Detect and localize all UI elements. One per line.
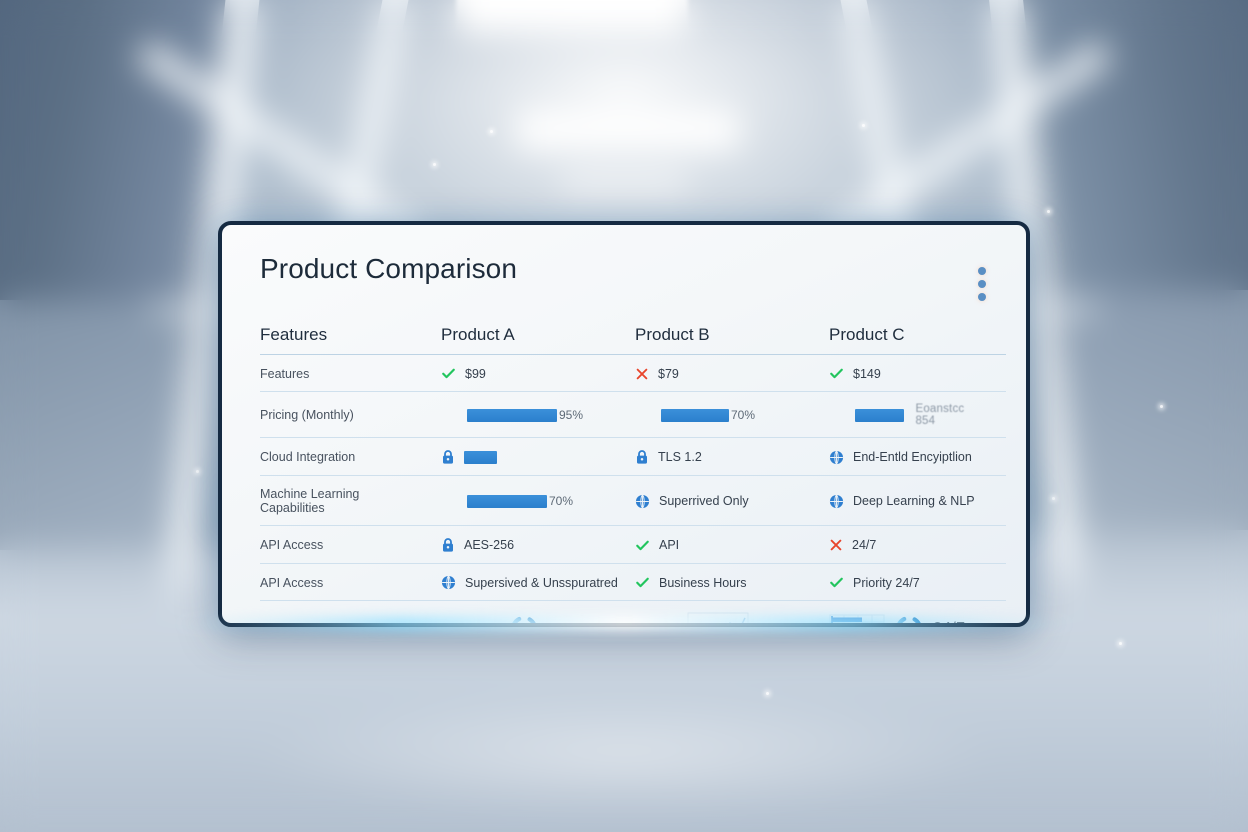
table-row: API Access AES-256 bbox=[260, 526, 1006, 564]
column-header-features: Features bbox=[260, 325, 435, 355]
cell-value: API bbox=[659, 538, 679, 552]
lock-icon bbox=[441, 449, 455, 465]
sparkle bbox=[1160, 405, 1163, 408]
sparkle bbox=[433, 163, 436, 166]
check-icon bbox=[829, 575, 844, 590]
support-availability-label: 24/7 bbox=[933, 620, 965, 627]
column-header-product-c: Product C bbox=[823, 325, 1006, 355]
cell-product-a: Supersived & Unsspuratred bbox=[435, 564, 629, 601]
cell-value: 24/7 bbox=[852, 538, 876, 552]
feature-label: Cloud Integration bbox=[260, 438, 435, 476]
cell-product-b: $79 bbox=[629, 355, 823, 392]
bar-chart-icon bbox=[829, 613, 885, 627]
cell-value: $99 bbox=[465, 367, 486, 381]
cell-value: Business Hours bbox=[659, 576, 747, 590]
progress-bar bbox=[467, 495, 547, 508]
check-icon bbox=[635, 538, 650, 553]
progress-label: 70% bbox=[731, 408, 755, 422]
feature-label: API Access bbox=[260, 526, 435, 564]
cell-product-a bbox=[435, 601, 629, 628]
sparkle bbox=[862, 124, 865, 127]
sparkle bbox=[766, 692, 769, 695]
column-header-product-b: Product B bbox=[629, 325, 823, 355]
table-row: Pricing (Monthly) 95% 70% bbox=[260, 392, 1006, 438]
cell-product-a bbox=[435, 438, 629, 476]
cell-product-c: 24/7 bbox=[823, 601, 1006, 628]
sparkle bbox=[490, 130, 493, 133]
table-body: Features $99 bbox=[260, 355, 1006, 628]
kebab-dot bbox=[978, 280, 986, 288]
check-icon bbox=[829, 366, 844, 381]
cell-product-a: $99 bbox=[435, 355, 629, 392]
progress-bar bbox=[464, 451, 497, 464]
cell-value: AES-256 bbox=[464, 538, 514, 552]
table-row: API Access Supersived & Unsspuratred bbox=[260, 564, 1006, 601]
cell-product-c: Deep Learning & NLP bbox=[823, 476, 1006, 526]
feature-label: API Access bbox=[260, 564, 435, 601]
product-comparison-card: Product Comparison Features Product A Pr… bbox=[218, 221, 1030, 627]
line-chart-icon bbox=[687, 612, 749, 627]
table-row: Cloud Integration bbox=[260, 438, 1006, 476]
cell-product-b: TLS 1.2 bbox=[629, 438, 823, 476]
table-row: Machine Learning Capabilities 70% bbox=[260, 476, 1006, 526]
cell-product-a: 95% bbox=[435, 392, 629, 438]
cell-product-b: Business Hours bbox=[629, 564, 823, 601]
cell-product-c: $149 bbox=[823, 355, 1006, 392]
cell-product-a: 70% bbox=[435, 476, 629, 526]
cell-product-c: 24/7 bbox=[823, 526, 1006, 564]
brain-icon bbox=[635, 494, 650, 509]
check-icon bbox=[635, 575, 650, 590]
donut-chart-icon bbox=[893, 613, 925, 627]
feature-label: Machine Learning Capabilities bbox=[260, 476, 435, 526]
cell-product-b: API bbox=[629, 526, 823, 564]
page-title: Product Comparison bbox=[260, 255, 990, 283]
sparkle bbox=[1052, 497, 1055, 500]
cell-value: Priority 24/7 bbox=[853, 576, 920, 590]
progress-bar bbox=[467, 409, 557, 422]
feature-label: Pricing (Monthly) bbox=[260, 392, 435, 438]
cell-product-c: Priority 24/7 bbox=[823, 564, 1006, 601]
feature-label: Customer Support bbox=[260, 601, 435, 628]
kebab-menu-icon[interactable] bbox=[978, 267, 986, 301]
x-icon bbox=[829, 538, 843, 552]
sparkle bbox=[1119, 642, 1122, 645]
brain-icon bbox=[441, 575, 456, 590]
lock-icon bbox=[635, 449, 649, 465]
comparison-table: Features Product A Product B Product C F… bbox=[260, 325, 1006, 627]
cell-product-b bbox=[629, 601, 823, 628]
table-row: Customer Support bbox=[260, 601, 1006, 628]
progress-label: 95% bbox=[559, 408, 583, 422]
cell-product-c: End-Entld Encyiptlion bbox=[823, 438, 1006, 476]
table-header-row: Features Product A Product B Product C bbox=[260, 325, 1006, 355]
cell-value: End-Entld Encyiptlion bbox=[853, 450, 972, 464]
cell-value: TLS 1.2 bbox=[658, 450, 702, 464]
cell-value: Deep Learning & NLP bbox=[853, 494, 975, 508]
cell-value: $149 bbox=[853, 367, 881, 381]
kebab-dot bbox=[978, 293, 986, 301]
cell-value: $79 bbox=[658, 367, 679, 381]
cell-product-a: AES-256 bbox=[435, 526, 629, 564]
cell-value: Superrived Only bbox=[659, 494, 749, 508]
cell-product-b: 70% bbox=[629, 392, 823, 438]
progress-label: 70% bbox=[549, 494, 573, 508]
cell-product-c: Eoanstcc 854 bbox=[823, 392, 1006, 438]
sparkle bbox=[196, 470, 199, 473]
lock-icon bbox=[441, 537, 455, 553]
sparkle bbox=[1047, 210, 1050, 213]
progress-bar bbox=[855, 409, 904, 422]
feature-label: Features bbox=[260, 355, 435, 392]
brain-icon bbox=[829, 450, 844, 465]
donut-chart-icon bbox=[508, 613, 540, 627]
progress-bar bbox=[661, 409, 729, 422]
table-row: Features $99 bbox=[260, 355, 1006, 392]
cell-product-b: Superrived Only bbox=[629, 476, 823, 526]
column-header-product-a: Product A bbox=[435, 325, 629, 355]
cell-value: Supersived & Unsspuratred bbox=[465, 576, 618, 590]
progress-label: Eoanstcc 854 bbox=[915, 403, 984, 427]
kebab-dot bbox=[978, 267, 986, 275]
brain-icon bbox=[829, 494, 844, 509]
check-icon bbox=[441, 366, 456, 381]
x-icon bbox=[635, 367, 649, 381]
